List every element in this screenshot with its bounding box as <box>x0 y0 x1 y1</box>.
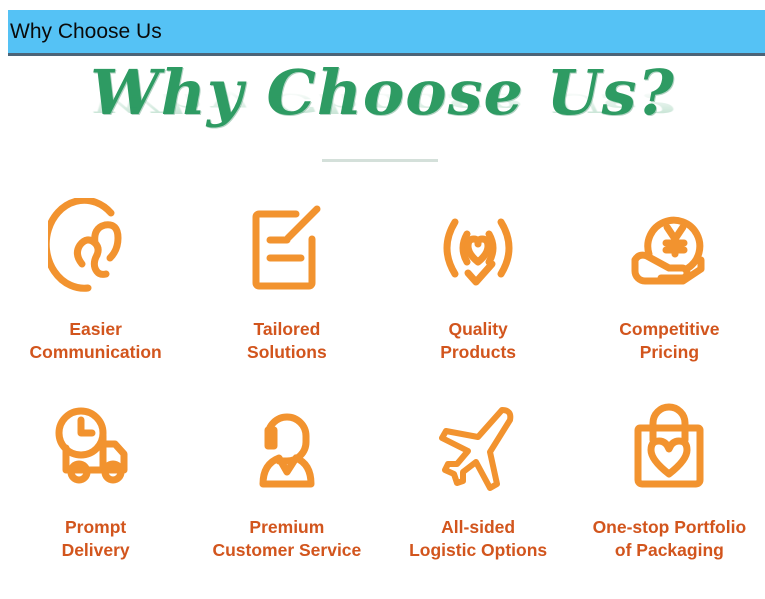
ear-in-circle-icon <box>48 196 144 300</box>
feature-label: Quality Products <box>440 318 516 364</box>
shopping-bag-heart-icon <box>621 394 717 498</box>
feature-item-competitive-pricing[interactable]: Competitive Pricing <box>574 196 765 364</box>
feature-label: Tailored Solutions <box>247 318 327 364</box>
feature-item-all-sided-logistic-options[interactable]: All-sided Logistic Options <box>383 394 574 562</box>
feature-label: Prompt Delivery <box>62 516 130 562</box>
hero-divider <box>322 159 438 162</box>
window-title: Why Choose Us <box>8 20 162 44</box>
feature-item-premium-customer-service[interactable]: Premium Customer Service <box>191 394 382 562</box>
feature-item-quality-products[interactable]: Quality Products <box>383 196 574 364</box>
feature-label: Competitive Pricing <box>619 318 719 364</box>
heart-signal-check-icon <box>430 196 526 300</box>
feature-item-tailored-solutions[interactable]: Tailored Solutions <box>191 196 382 364</box>
feature-grid: Easier Communication Tailored Solutions <box>0 196 765 562</box>
feature-label: Premium Customer Service <box>212 516 361 562</box>
hero-title: Why Choose Us? <box>90 62 675 124</box>
feature-item-prompt-delivery[interactable]: Prompt Delivery <box>0 394 191 562</box>
document-pencil-icon <box>239 196 335 300</box>
feature-label: Easier Communication <box>30 318 162 364</box>
hero-banner: Why Choose Us? Why Choose Us? <box>0 62 765 172</box>
hand-yen-coin-icon <box>621 196 717 300</box>
feature-label: One-stop Portfolio of Packaging <box>593 516 747 562</box>
window-titlebar: Why Choose Us <box>8 10 765 56</box>
airplane-icon <box>430 394 526 498</box>
feature-label: All-sided Logistic Options <box>409 516 547 562</box>
feature-row: Easier Communication Tailored Solutions <box>0 196 765 364</box>
feature-item-one-stop-portfolio-of-packaging[interactable]: One-stop Portfolio of Packaging <box>574 394 765 562</box>
feature-item-easier-communication[interactable]: Easier Communication <box>0 196 191 364</box>
feature-row: Prompt Delivery Premium Customer Service <box>0 394 765 562</box>
delivery-truck-clock-icon <box>48 394 144 498</box>
headset-agent-icon <box>239 394 335 498</box>
